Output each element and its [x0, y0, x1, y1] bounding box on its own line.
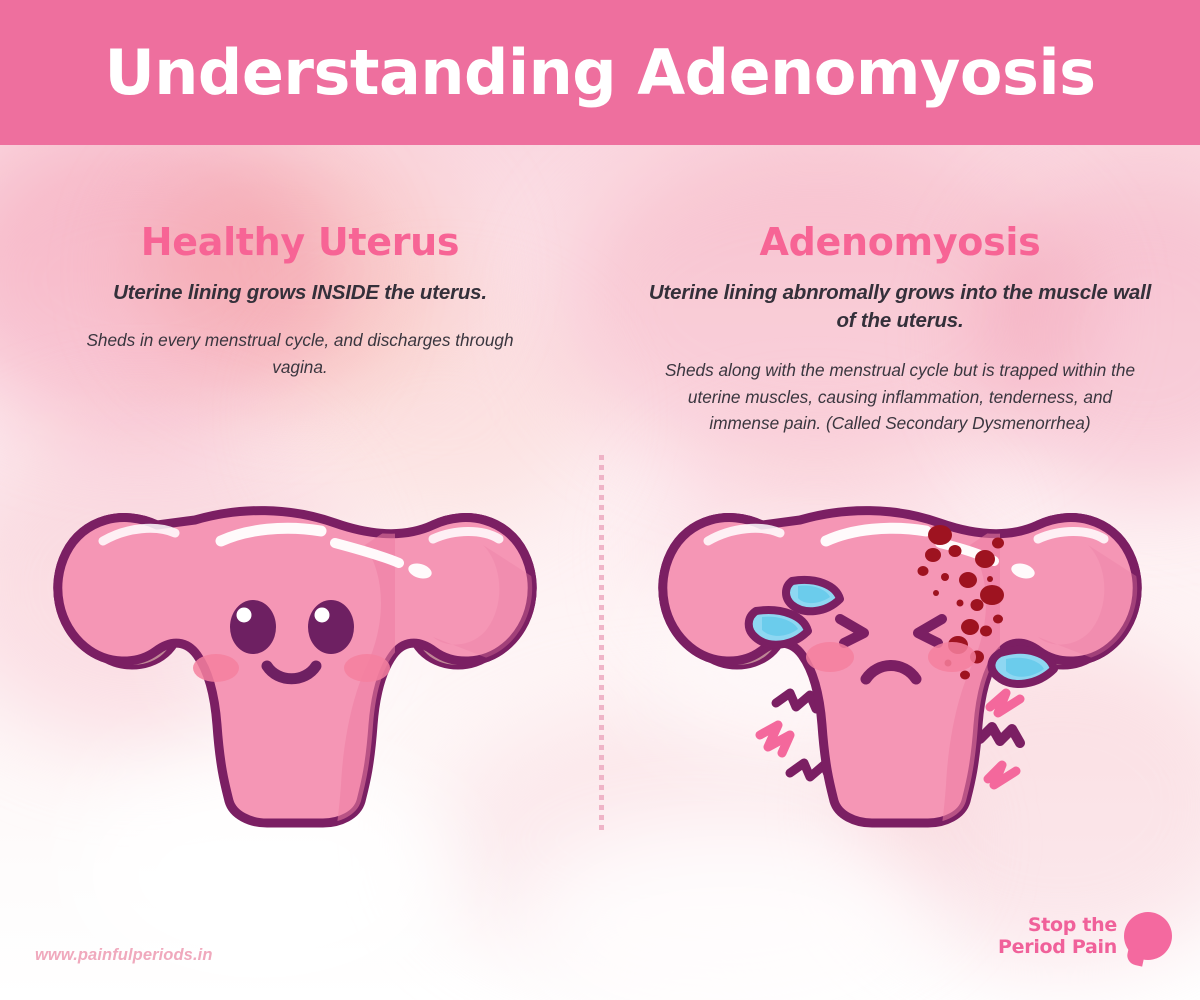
page-title: Understanding Adenomyosis [104, 42, 1095, 104]
sad-uterus-illustration [640, 485, 1160, 850]
left-eye [230, 600, 276, 654]
logo-text: Stop the Period Pain [998, 914, 1117, 959]
right-blush [344, 654, 390, 682]
speech-bubble-icon [1124, 912, 1172, 960]
website-url[interactable]: www.painfulperiods.in [35, 946, 213, 965]
logo-line-1: Stop the [998, 914, 1117, 936]
healthy-subtitle: Uterine lining grows INSIDE the uterus. [45, 279, 555, 307]
vertical-dotted-divider [599, 455, 604, 830]
happy-uterus-illustration [35, 485, 555, 850]
column-adenomyosis: Adenomyosis Uterine lining abnromally gr… [645, 222, 1155, 437]
healthy-body: Sheds in every menstrual cycle, and disc… [45, 327, 555, 381]
left-eye-highlight [237, 608, 252, 623]
left-blush [806, 642, 854, 672]
right-eye-highlight [315, 608, 330, 623]
adenomyosis-heading: Adenomyosis [645, 222, 1155, 263]
teardrop-upper-left [786, 580, 840, 611]
right-blush [928, 642, 976, 672]
brand-logo[interactable]: Stop the Period Pain [998, 912, 1172, 960]
healthy-heading: Healthy Uterus [45, 222, 555, 263]
pain-zigzag-right [980, 693, 1020, 785]
adenomyosis-body: Sheds along with the menstrual cycle but… [645, 357, 1155, 437]
right-eye [308, 600, 354, 654]
teardrop-right [991, 650, 1054, 684]
adenomyosis-subtitle: Uterine lining abnromally grows into the… [645, 279, 1155, 335]
column-healthy: Healthy Uterus Uterine lining grows INSI… [45, 222, 555, 381]
logo-line-2: Period Pain [998, 936, 1117, 958]
left-blush [193, 654, 239, 682]
header-bar: Understanding Adenomyosis [0, 0, 1200, 145]
teardrop-lower-left [749, 610, 808, 645]
infographic-canvas: Understanding Adenomyosis Healthy Uterus… [0, 0, 1200, 1000]
